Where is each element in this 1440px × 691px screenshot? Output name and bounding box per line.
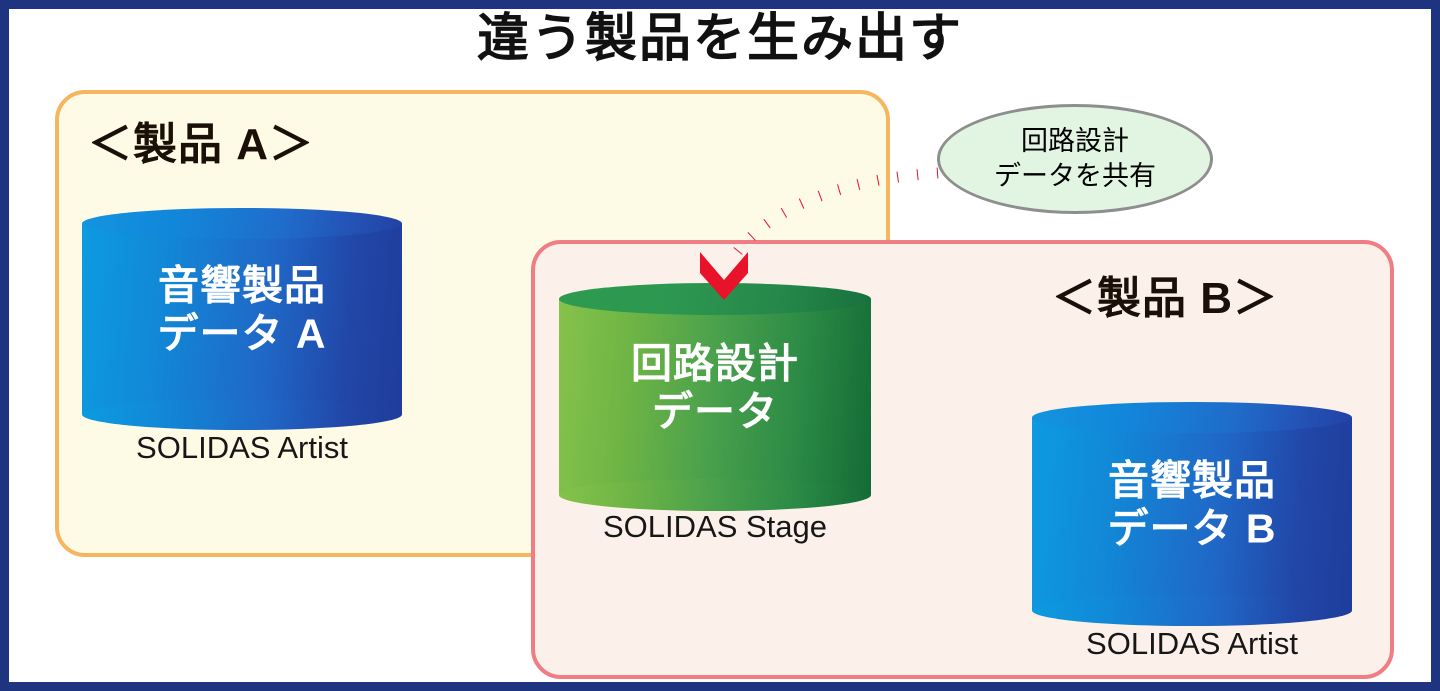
cylinder-bottom-ellipse xyxy=(1032,595,1352,626)
diagram-canvas: 違う製品を生み出す ＜製品 A＞ ＜製品 B＞ 音響製品 データ A SOLID… xyxy=(0,0,1440,691)
cylinder-label-audio-data-b: 音響製品 データ B xyxy=(1032,457,1352,554)
cylinder-label-circuit-design-data: 回路設計 データ xyxy=(559,340,871,437)
cylinder-top-ellipse xyxy=(82,208,402,239)
page-title: 違う製品を生み出す xyxy=(0,10,1440,68)
group-label-product-b: ＜製品 B＞ xyxy=(1052,262,1278,326)
cylinder-label-line2: データ A xyxy=(82,310,402,358)
cylinder-label-line2: データ xyxy=(559,388,871,436)
cylinder-caption-circuit-design-data: SOLIDAS Stage xyxy=(549,509,881,545)
callout-shared-circuit-data: 回路設計 データを共有 xyxy=(937,104,1213,214)
cylinder-bottom-ellipse xyxy=(559,479,871,511)
group-label-product-a: ＜製品 A＞ xyxy=(88,108,314,172)
cylinder-circuit-design-data: 回路設計 データ xyxy=(559,283,871,511)
cylinder-caption-audio-data-b: SOLIDAS Artist xyxy=(1032,626,1352,662)
callout-line1: 回路設計 xyxy=(1021,124,1129,159)
cylinder-label-line1: 音響製品 xyxy=(1032,457,1352,505)
cylinder-audio-data-a: 音響製品 データ A xyxy=(82,208,402,430)
shared-data-arrow xyxy=(690,140,960,300)
cylinder-label-line1: 回路設計 xyxy=(559,340,871,388)
cylinder-label-audio-data-a: 音響製品 データ A xyxy=(82,262,402,359)
cylinder-label-line1: 音響製品 xyxy=(82,262,402,310)
arrow-dotted-path xyxy=(730,173,938,262)
cylinder-label-line2: データ B xyxy=(1032,505,1352,553)
arrow-head-icon xyxy=(700,252,748,300)
callout-line2: データを共有 xyxy=(994,159,1156,194)
cylinder-caption-audio-data-a: SOLIDAS Artist xyxy=(82,430,402,466)
cylinder-bottom-ellipse xyxy=(82,399,402,430)
cylinder-audio-data-b: 音響製品 データ B xyxy=(1032,402,1352,626)
